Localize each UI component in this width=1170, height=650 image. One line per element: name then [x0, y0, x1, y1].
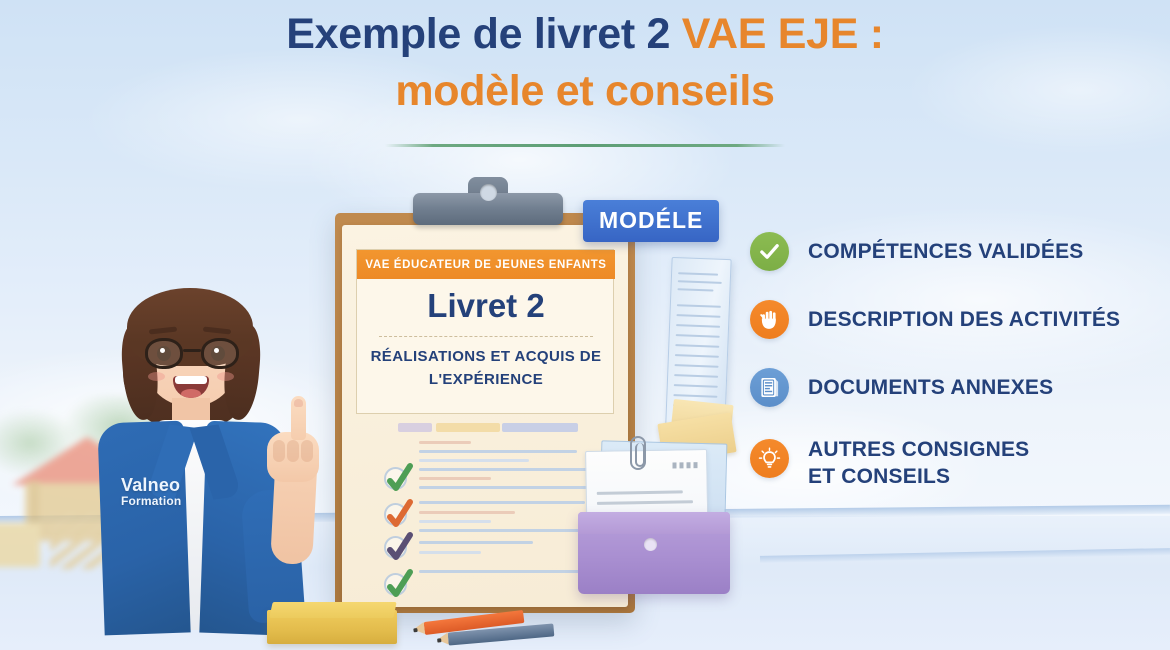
- list-item-label: DOCUMENTS ANNEXES: [808, 374, 1053, 401]
- folder-lip: [578, 512, 730, 534]
- document-icon: [750, 368, 789, 407]
- title-line-2: modèle et conseils: [0, 63, 1170, 120]
- clipboard-clip-hole: [480, 184, 497, 201]
- check-icon: [750, 232, 789, 271]
- checklist-check-3: [384, 536, 407, 559]
- list-item[interactable]: DOCUMENTS ANNEXES: [750, 368, 1170, 407]
- paperclip-icon: [630, 436, 646, 470]
- checklist-check-1: [384, 467, 407, 490]
- list-item-label: AUTRES CONSIGNES ET CONSEILS: [808, 436, 1029, 490]
- checklist-check-4: [384, 573, 407, 596]
- list-item[interactable]: DESCRIPTION DES ACTIVITÉS: [750, 300, 1170, 339]
- page-title: Exemple de livret 2 VAE EJE : modèle et …: [0, 6, 1170, 120]
- brand-logo: Valneo Formation: [121, 476, 181, 507]
- cheek-left: [148, 372, 165, 381]
- lightbulb-icon: [750, 439, 789, 478]
- title-line-1: Exemple de livret 2 VAE EJE :: [0, 6, 1170, 63]
- document-folder-group[interactable]: [578, 440, 758, 605]
- list-item-label: DESCRIPTION DES ACTIVITÉS: [808, 306, 1120, 333]
- lens-left: [145, 338, 183, 369]
- brand-logo-line2: Formation: [121, 495, 181, 508]
- clipboard-subtitle: RÉALISATIONS ET ACQUIS DE L'EXPÉRIENCE: [365, 345, 607, 391]
- title-segment-orange: VAE EJE :: [682, 10, 884, 58]
- notepad-top-sheet: [269, 602, 396, 618]
- purple-folder: [578, 512, 730, 594]
- clipboard-band-label: VAE ÉDUCATEUR DE JEUNES ENFANTS: [365, 259, 606, 271]
- list-item-label: COMPÉTENCES VALIDÉES: [808, 238, 1083, 265]
- clipboard-title: Livret 2: [357, 287, 615, 325]
- document-mark: [672, 462, 698, 468]
- title-segment-navy: Exemple de livret 2: [286, 10, 682, 58]
- clipboard-rule: [379, 336, 593, 337]
- folder-button: [644, 538, 657, 551]
- cheek-right: [217, 372, 234, 381]
- avatar: Valneo Formation: [95, 280, 345, 650]
- clipboard-title-card: VAE ÉDUCATEUR DE JEUNES ENFANTS Livret 2…: [356, 249, 614, 414]
- list-item[interactable]: COMPÉTENCES VALIDÉES: [750, 232, 1170, 271]
- lens-right: [201, 338, 239, 369]
- fingernail: [294, 399, 303, 407]
- brand-logo-line1: Valneo: [121, 476, 181, 495]
- desk-edge-line-right: [760, 548, 1170, 563]
- hand-icon: [750, 300, 789, 339]
- clipboard-band: VAE ÉDUCATEUR DE JEUNES ENFANTS: [357, 250, 615, 279]
- glasses-bridge: [183, 349, 201, 352]
- tongue: [181, 389, 201, 398]
- poster-canvas: Exemple de livret 2 VAE EJE : modèle et …: [0, 0, 1170, 650]
- list-item[interactable]: AUTRES CONSIGNES ET CONSEILS: [750, 436, 1170, 490]
- checklist-check-2: [384, 503, 407, 526]
- yellow-notepad: [267, 600, 397, 644]
- title-divider: [385, 144, 785, 147]
- glasses-icon: [145, 338, 239, 370]
- feature-list: COMPÉTENCES VALIDÉES DESCRIPTION DES ACT…: [750, 232, 1170, 519]
- status-badge: MODÉLE: [583, 200, 719, 242]
- clipboard-checklist: [356, 423, 616, 591]
- sandbox: [0, 523, 40, 567]
- teeth: [175, 376, 207, 384]
